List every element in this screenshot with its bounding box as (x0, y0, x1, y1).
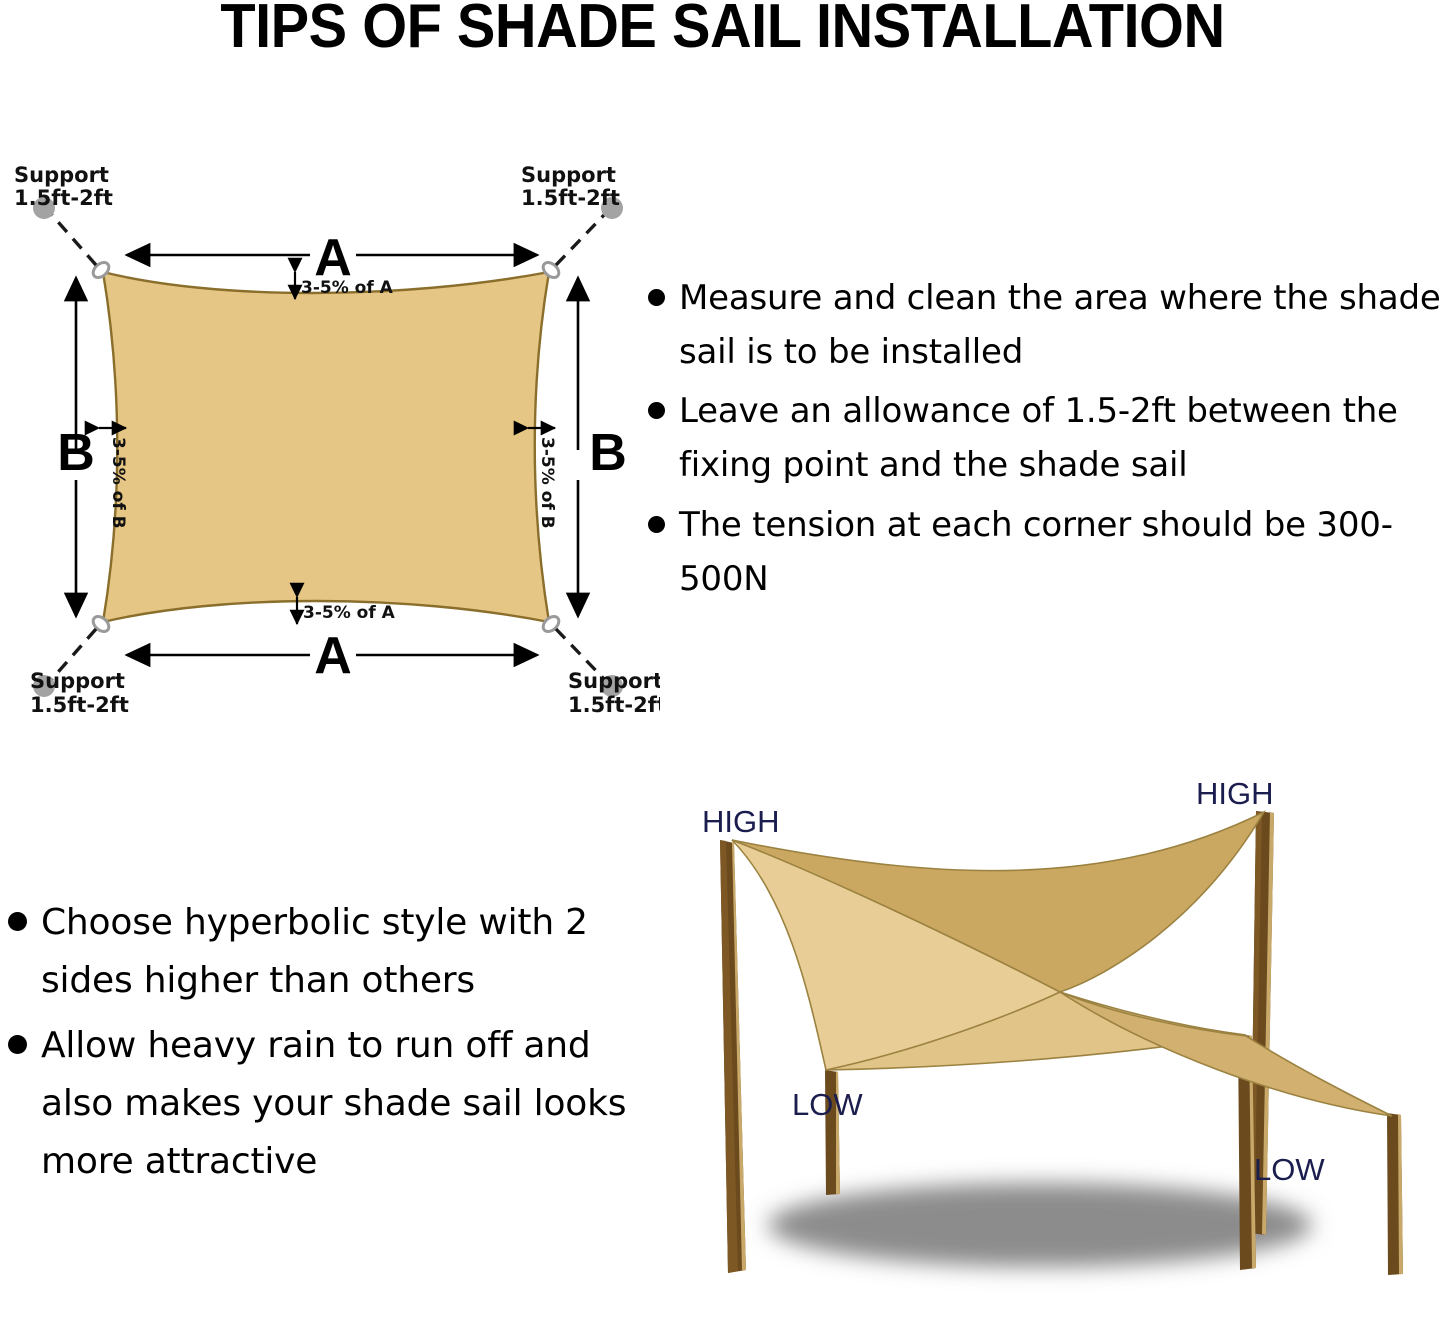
bullet-dot-icon (648, 516, 665, 533)
list-item: Leave an allowance of 1.5-2ft between th… (648, 385, 1445, 492)
svg-text:3-5% of B: 3-5% of B (537, 437, 557, 529)
style-tip-text: Allow heavy rain to run off and also mak… (41, 1017, 628, 1192)
svg-text:A: A (314, 627, 352, 685)
svg-text:Support: Support (30, 669, 125, 693)
svg-text:1.5ft-2ft: 1.5ft-2ft (521, 186, 620, 210)
support-label-bottom-right: Support 1.5ft-2ft (568, 669, 660, 717)
svg-text:3-5% of B: 3-5% of B (108, 437, 128, 529)
svg-text:Support: Support (521, 163, 616, 187)
tip-text: Leave an allowance of 1.5-2ft between th… (679, 385, 1445, 492)
support-label-top-left: Support 1.5ft-2ft (14, 163, 113, 210)
support-label-top-right: Support 1.5ft-2ft (521, 163, 620, 210)
svg-text:1.5ft-2ft: 1.5ft-2ft (30, 693, 129, 717)
svg-text:1.5ft-2ft: 1.5ft-2ft (14, 186, 113, 210)
list-item: Choose hyperbolic style with 2 sides hig… (8, 894, 628, 1011)
label-high-left: HIGH (702, 804, 780, 839)
bullet-dot-icon (8, 912, 27, 931)
tip-text: The tension at each corner should be 300… (679, 499, 1445, 606)
post-left-high (720, 840, 746, 1273)
svg-text:3-5% of A: 3-5% of A (301, 278, 394, 298)
svg-text:B: B (57, 424, 95, 482)
svg-text:1.5ft-2ft: 1.5ft-2ft (568, 693, 660, 717)
sail-surface-right-wing (1060, 992, 1392, 1116)
dimension-b-left: B (57, 278, 95, 616)
label-low-right: LOW (1254, 1152, 1325, 1187)
svg-text:B: B (589, 424, 627, 482)
curve-note-left: 3-5% of B (99, 428, 128, 529)
list-item: Measure and clean the area where the sha… (648, 272, 1445, 379)
tip-text: Measure and clean the area where the sha… (679, 272, 1445, 379)
bullet-dot-icon (8, 1035, 27, 1054)
label-low-left: LOW (792, 1087, 863, 1122)
hyperbolic-style-tips: Choose hyperbolic style with 2 sides hig… (8, 894, 628, 1198)
bullet-dot-icon (648, 289, 665, 306)
svg-text:Support: Support (14, 163, 109, 187)
installation-tips: Measure and clean the area where the sha… (648, 272, 1445, 612)
svg-text:3-5% of A: 3-5% of A (303, 603, 396, 623)
hyperbolic-sail-illustration: HIGH HIGH LOW LOW (640, 770, 1445, 1319)
style-tip-text: Choose hyperbolic style with 2 sides hig… (41, 894, 628, 1011)
shade-sail-dimension-diagram: Support 1.5ft-2ft Support 1.5ft-2ft Supp… (0, 160, 660, 740)
list-item: Allow heavy rain to run off and also mak… (8, 1017, 628, 1192)
bullet-dot-icon (648, 402, 665, 419)
label-high-right: HIGH (1196, 776, 1274, 811)
support-label-bottom-left: Support 1.5ft-2ft (30, 669, 129, 717)
page-title: TIPS OF SHADE SAIL INSTALLATION (51, 0, 1395, 58)
post-right-low (1387, 1113, 1403, 1275)
svg-text:Support: Support (568, 669, 660, 693)
dimension-a-bottom: A (127, 627, 537, 685)
sail-shape (103, 272, 549, 622)
ground-shadow (768, 1183, 1312, 1267)
list-item: The tension at each corner should be 300… (648, 499, 1445, 606)
dimension-b-right: B (578, 278, 627, 616)
